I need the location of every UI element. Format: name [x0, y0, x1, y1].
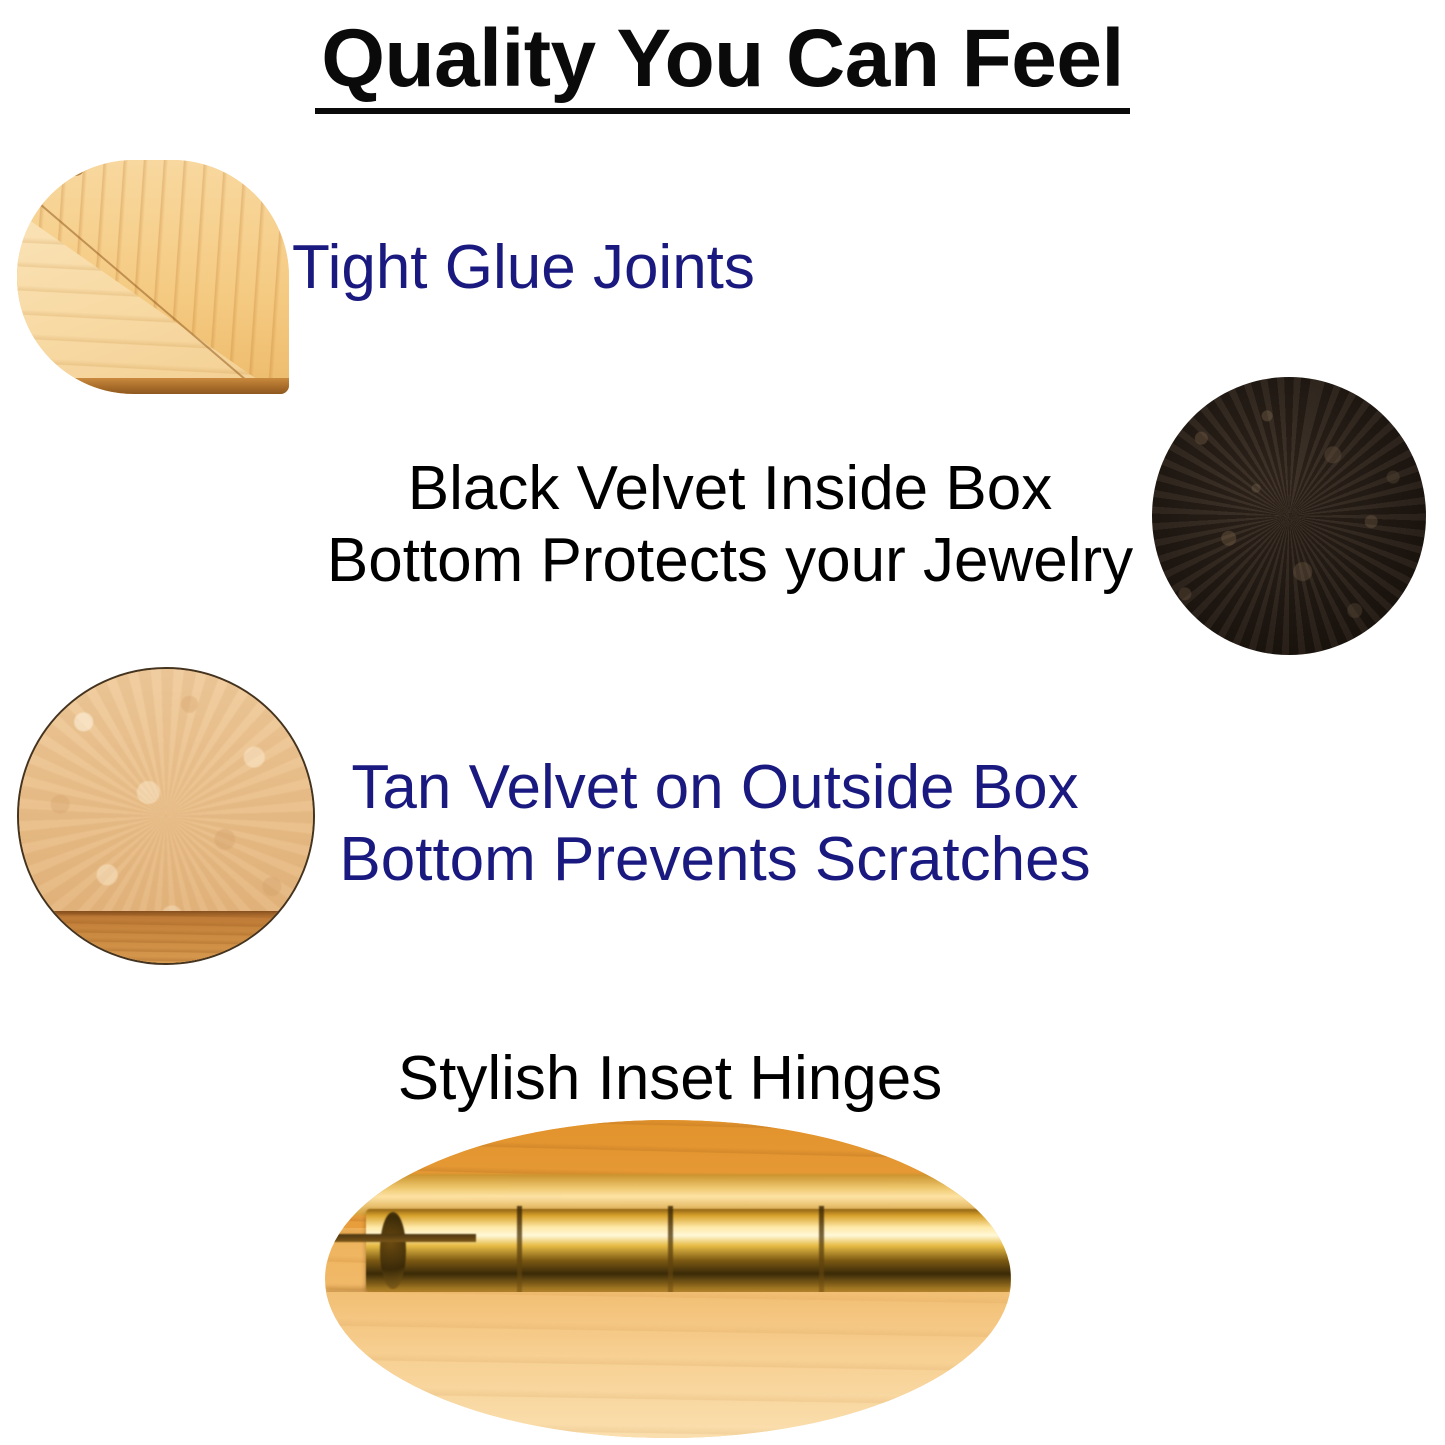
caption-tight-glue-joints: Tight Glue Joints — [292, 232, 755, 304]
caption-tan-velvet: Tan Velvet on Outside Box Bottom Prevent… — [330, 752, 1100, 896]
wood-corner-photo — [17, 160, 289, 394]
page-title: Quality You Can Feel — [0, 18, 1445, 114]
caption-inset-hinges: Stylish Inset Hinges — [330, 1043, 1010, 1115]
hinge-barrel — [366, 1209, 1011, 1292]
caption-black-velvet: Black Velvet Inside Box Bottom Protects … — [300, 453, 1160, 597]
hinge-knuckle-seam-3 — [819, 1206, 824, 1295]
wood-knot-mark — [67, 166, 83, 176]
hinge-pin-end — [380, 1212, 406, 1288]
hinge-knuckle-seam-1 — [517, 1206, 522, 1295]
brass-hinge-photo — [325, 1120, 1011, 1438]
black-velvet-swatch — [1152, 377, 1426, 655]
product-feature-infographic: Quality You Can Feel Tight Glue Joints B… — [0, 0, 1445, 1445]
hinge-knuckle-seam-2 — [668, 1206, 673, 1295]
hinge-inset-groove — [325, 1234, 476, 1242]
page-title-text: Quality You Can Feel — [315, 18, 1130, 114]
tan-velvet-wood-edge — [19, 911, 313, 963]
wood-bottom-edge — [17, 378, 289, 394]
hinge-wood-lower — [325, 1292, 1011, 1438]
tan-velvet-swatch — [17, 667, 315, 965]
